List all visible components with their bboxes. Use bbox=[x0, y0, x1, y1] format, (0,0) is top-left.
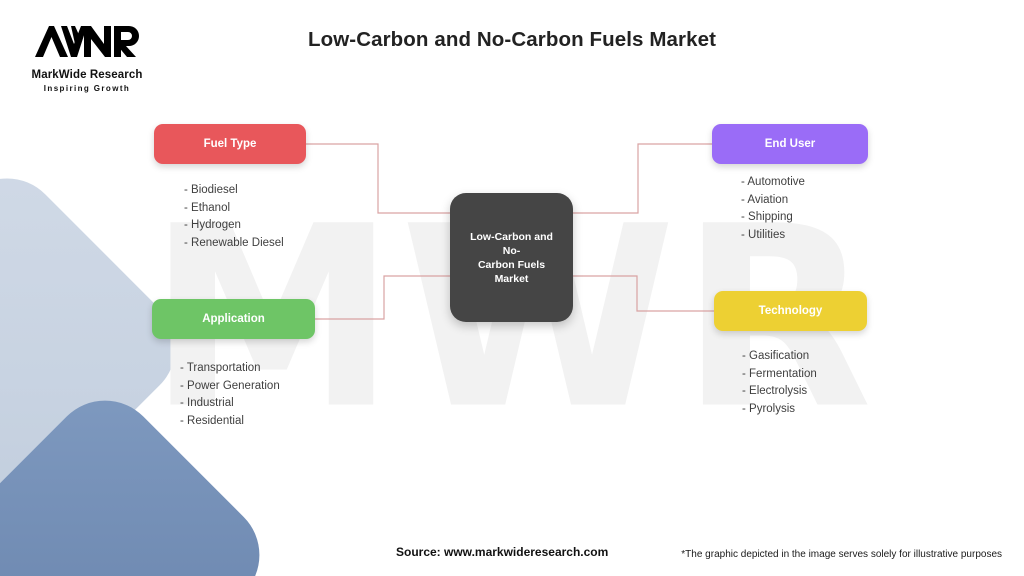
branch-list-technology: - Gasification - Fermentation - Electrol… bbox=[742, 348, 867, 418]
footer-disclaimer: *The graphic depicted in the image serve… bbox=[681, 549, 1002, 560]
list-item: - Fermentation bbox=[742, 366, 867, 384]
list-item: - Industrial bbox=[180, 395, 315, 413]
list-item: - Transportation bbox=[180, 360, 315, 378]
branch-header-end-user[interactable]: End User bbox=[712, 124, 868, 164]
branch-title-application: Application bbox=[202, 313, 265, 325]
list-item: - Electrolysis bbox=[742, 383, 867, 401]
footer-source: Source: www.markwideresearch.com bbox=[396, 545, 608, 559]
connector-technology bbox=[573, 276, 714, 311]
branch-list-application: - Transportation - Power Generation - In… bbox=[180, 360, 315, 430]
list-item: - Automotive bbox=[741, 174, 868, 192]
center-node-line-1: Low-Carbon and No- bbox=[470, 231, 553, 257]
branch-application[interactable]: Application - Transportation - Power Gen… bbox=[152, 299, 315, 430]
branch-title-end-user: End User bbox=[765, 138, 816, 150]
list-item: - Residential bbox=[180, 413, 315, 431]
list-item: - Biodiesel bbox=[184, 182, 306, 200]
center-node-label: Low-Carbon and No- Carbon Fuels Market bbox=[460, 230, 563, 286]
list-item: - Ethanol bbox=[184, 200, 306, 218]
list-item: - Hydrogen bbox=[184, 217, 306, 235]
center-node-line-2: Carbon Fuels Market bbox=[478, 259, 545, 285]
branch-list-end-user: - Automotive - Aviation - Shipping - Uti… bbox=[741, 174, 868, 244]
list-item: - Renewable Diesel bbox=[184, 235, 306, 253]
branch-header-technology[interactable]: Technology bbox=[714, 291, 867, 331]
list-item: - Gasification bbox=[742, 348, 867, 366]
branch-list-fuel-type: - Biodiesel - Ethanol - Hydrogen - Renew… bbox=[184, 182, 306, 252]
infographic-canvas: MWR MarkWide Research Inspiring Growth bbox=[0, 0, 1024, 576]
list-item: - Utilities bbox=[741, 227, 868, 245]
branch-header-application[interactable]: Application bbox=[152, 299, 315, 339]
connector-fuel-type bbox=[306, 144, 450, 213]
branch-technology[interactable]: Technology - Gasification - Fermentation… bbox=[714, 291, 867, 418]
list-item: - Shipping bbox=[741, 209, 868, 227]
connector-application bbox=[315, 276, 450, 319]
list-item: - Aviation bbox=[741, 192, 868, 210]
list-item: - Pyrolysis bbox=[742, 401, 867, 419]
list-item: - Power Generation bbox=[180, 378, 315, 396]
branch-title-technology: Technology bbox=[759, 305, 823, 317]
branch-fuel-type[interactable]: Fuel Type - Biodiesel - Ethanol - Hydrog… bbox=[154, 124, 306, 252]
center-node[interactable]: Low-Carbon and No- Carbon Fuels Market bbox=[450, 193, 573, 322]
branch-end-user[interactable]: End User - Automotive - Aviation - Shipp… bbox=[712, 124, 868, 244]
branch-header-fuel-type[interactable]: Fuel Type bbox=[154, 124, 306, 164]
branch-title-fuel-type: Fuel Type bbox=[204, 138, 257, 150]
connector-end-user bbox=[573, 144, 712, 213]
